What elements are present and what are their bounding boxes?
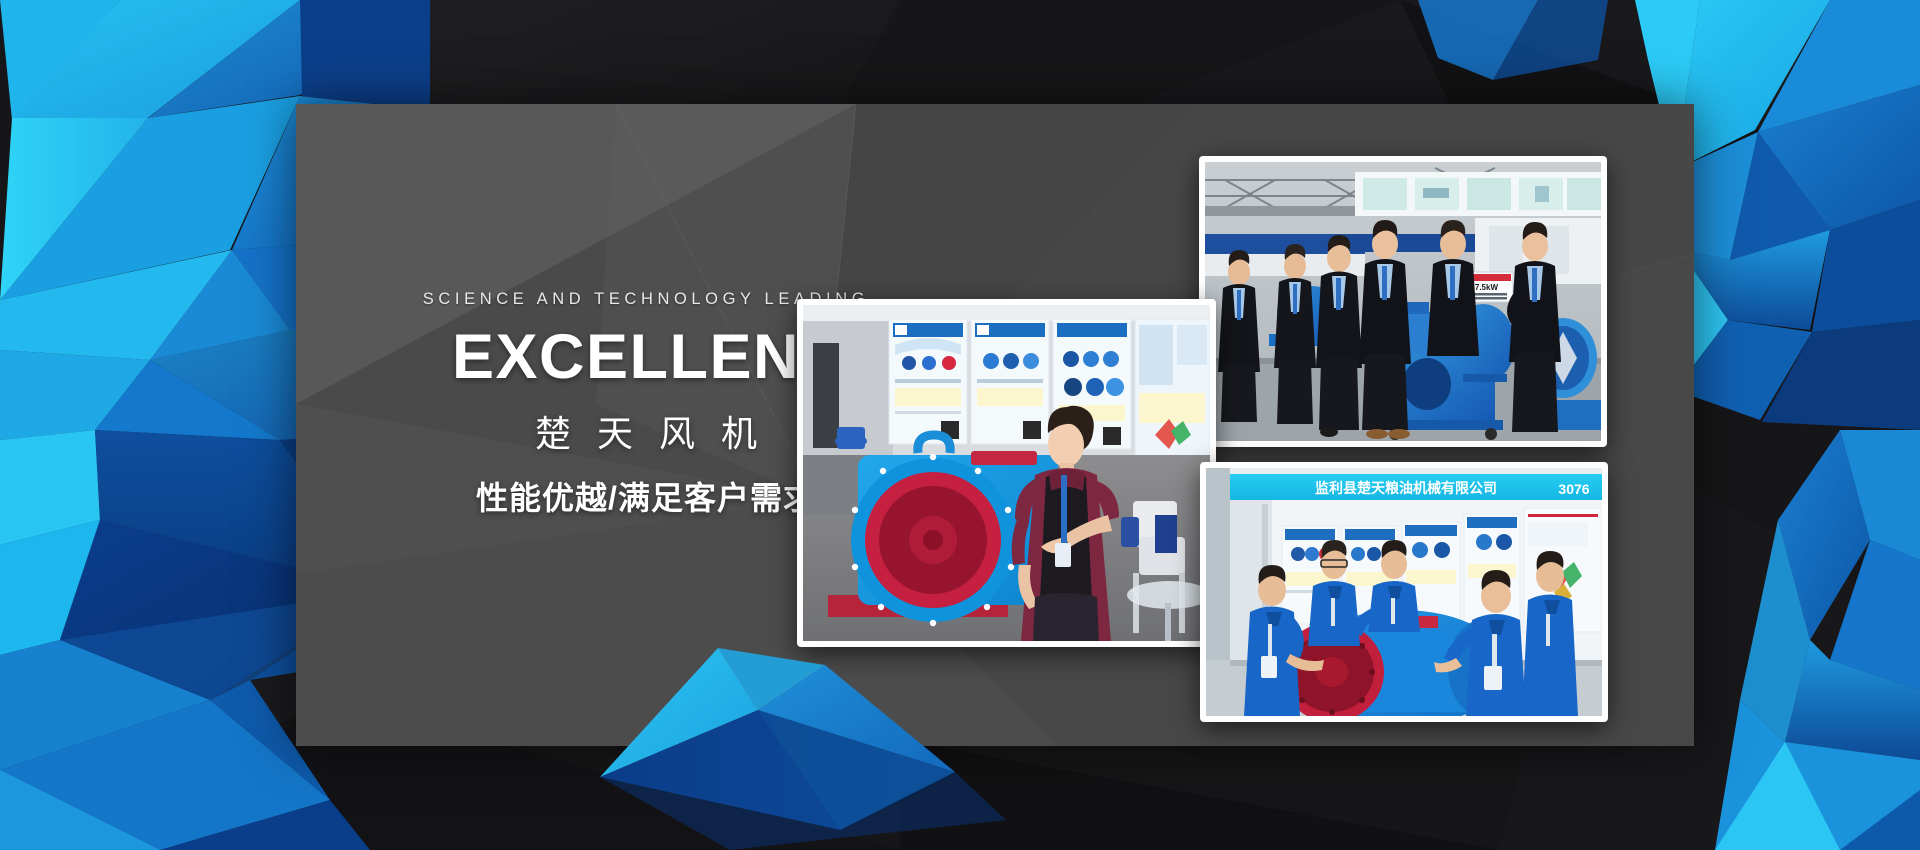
hero-banner: SCIENCE AND TECHNOLOGY LEADING EXCELLENT…: [0, 0, 1920, 850]
bottom-pyramid-crystal: [540, 620, 1020, 850]
booth-number-text: 3076: [1558, 481, 1589, 497]
booth-banner-text: 监利县楚天粮油机械有限公司: [1315, 480, 1497, 497]
management-team-photo[interactable]: CT 7.5kW: [1199, 156, 1607, 447]
exhibition-booth-presenter-photo[interactable]: [797, 299, 1216, 647]
sales-team-booth-photo[interactable]: 监利县楚天粮油机械有限公司 3076: [1200, 462, 1608, 722]
